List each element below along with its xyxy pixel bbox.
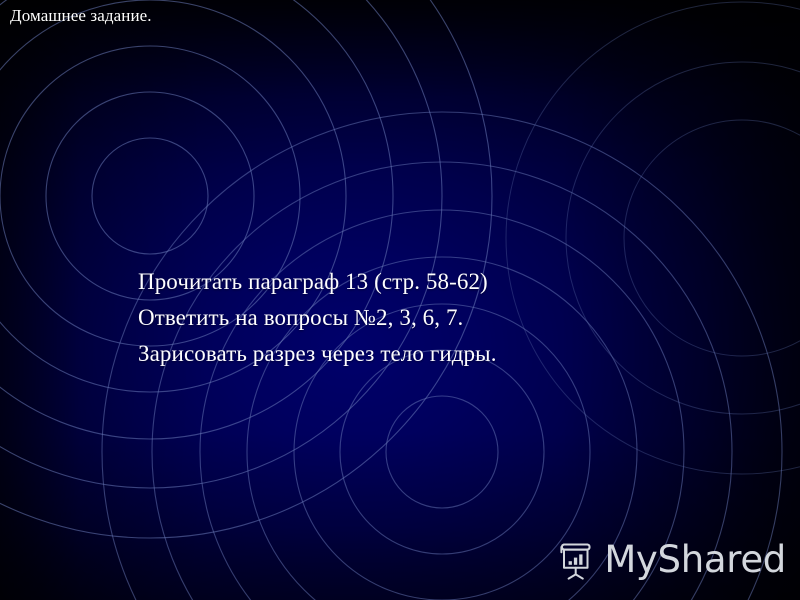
- body-line-draw-section: Зарисовать разрез через тело гидры.: [138, 336, 658, 372]
- body-line-read-paragraph: Прочитать параграф 13 (стр. 58-62): [138, 264, 658, 300]
- body-line-answer-questions: Ответить на вопросы №2, 3, 6, 7.: [138, 300, 658, 336]
- presentation-chart-icon: [555, 538, 595, 582]
- slide-title: Домашнее задание.: [10, 5, 152, 27]
- myshared-watermark: MyShared: [555, 538, 786, 582]
- slide-canvas: Домашнее задание. Прочитать параграф 13 …: [0, 0, 800, 600]
- myshared-brand-text: MyShared: [604, 540, 786, 580]
- slide-body-text: Прочитать параграф 13 (стр. 58-62) Ответ…: [138, 264, 658, 372]
- bar-chart-glyph: [569, 554, 583, 564]
